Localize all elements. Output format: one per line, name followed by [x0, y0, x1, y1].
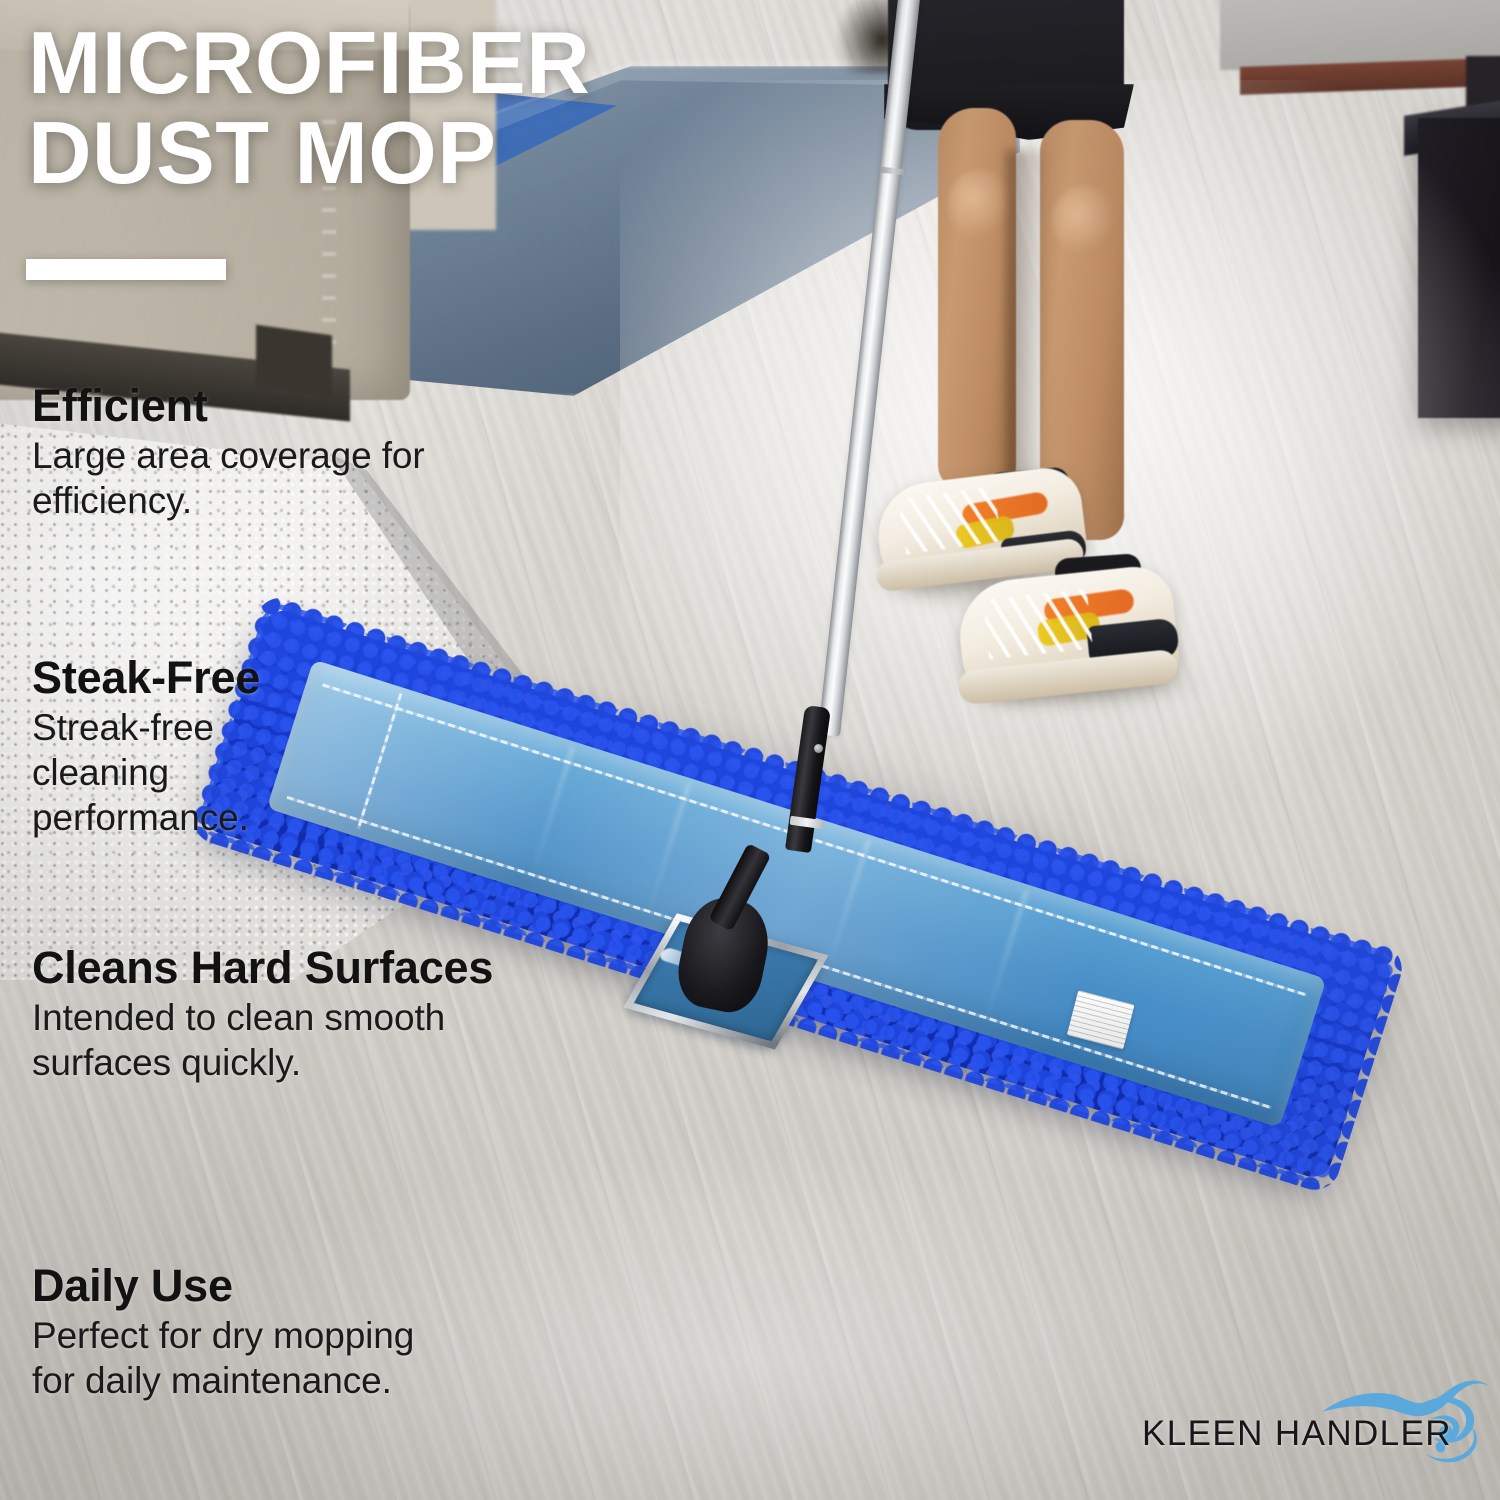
product-feature-image: MICROFIBER DUST MOP Efficient Large area…: [0, 0, 1500, 1500]
page-title: MICROFIBER DUST MOP: [28, 18, 888, 198]
brand-name: KLEEN HANDLER: [1142, 1414, 1452, 1454]
feature-item-steak-free: Steak-Free Streak-free cleaning performa…: [32, 654, 352, 840]
feature-heading: Steak-Free: [32, 654, 352, 703]
feature-body: Intended to clean smooth surfaces quickl…: [32, 995, 592, 1085]
feature-heading: Cleans Hard Surfaces: [32, 944, 592, 993]
title-line-2: DUST MOP: [28, 108, 888, 198]
feature-item-efficient: Efficient Large area coverage for effici…: [32, 382, 502, 523]
feature-body: Large area coverage for efficiency.: [32, 433, 502, 523]
feature-item-daily-use: Daily Use Perfect for dry mopping for da…: [32, 1262, 432, 1403]
brand-logo: KLEEN HANDLER: [1138, 1372, 1490, 1488]
feature-item-cleans-hard-surfaces: Cleans Hard Surfaces Intended to clean s…: [32, 944, 592, 1085]
feature-heading: Daily Use: [32, 1262, 432, 1311]
feature-body: Streak-free cleaning performance.: [32, 705, 352, 840]
feature-body: Perfect for dry mopping for daily mainte…: [32, 1313, 432, 1403]
title-underline-rule: [26, 259, 226, 280]
feature-heading: Efficient: [32, 382, 502, 431]
title-line-1: MICROFIBER: [28, 18, 888, 108]
